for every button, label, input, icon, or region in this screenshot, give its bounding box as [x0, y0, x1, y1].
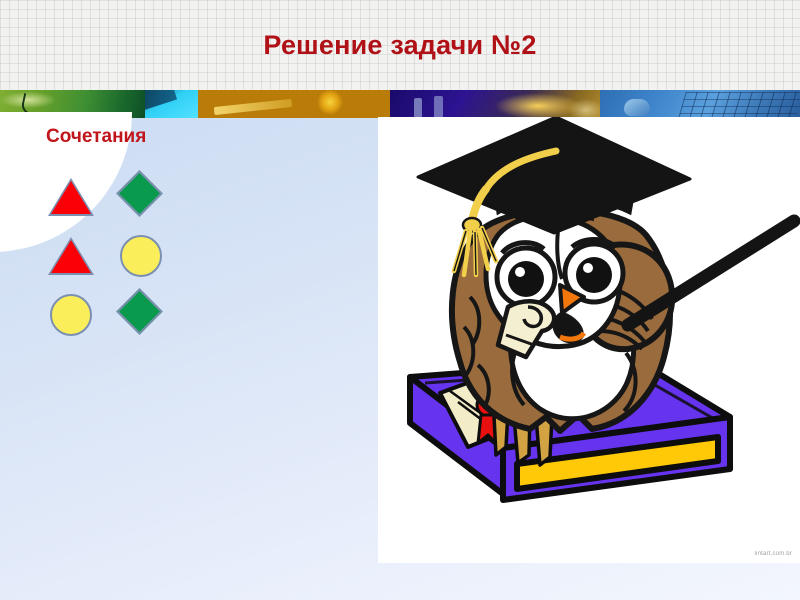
combination-list: [46, 174, 346, 338]
red-triangle: [46, 174, 96, 220]
combination-row-1: [46, 174, 346, 220]
yellow-circle: [46, 292, 96, 338]
page-title: Решение задачи №2: [0, 30, 800, 61]
combination-row-3: [46, 292, 346, 338]
slide-canvas: Решение задачи №2 Сочетания: [0, 0, 800, 600]
title-bar: Решение задачи №2: [0, 0, 800, 90]
section-heading: Сочетания: [46, 126, 346, 148]
green-diamond: [116, 174, 166, 220]
owl-illustration-panel: lintart.com.br: [378, 117, 800, 563]
orange-gears-photo: [198, 90, 390, 118]
navy-lab-photo: [390, 90, 600, 118]
yellow-circle: [116, 233, 166, 279]
combinations-panel: Сочетания: [46, 126, 346, 338]
watermark-text: lintart.com.br: [755, 551, 792, 557]
green-diamond: [116, 292, 166, 338]
cyan-abstract-photo: [145, 90, 198, 118]
combination-row-2: [46, 233, 346, 279]
red-triangle: [46, 233, 96, 279]
blue-keyboard-photo: [600, 90, 800, 118]
owl-teacher-illustration: [378, 117, 800, 563]
